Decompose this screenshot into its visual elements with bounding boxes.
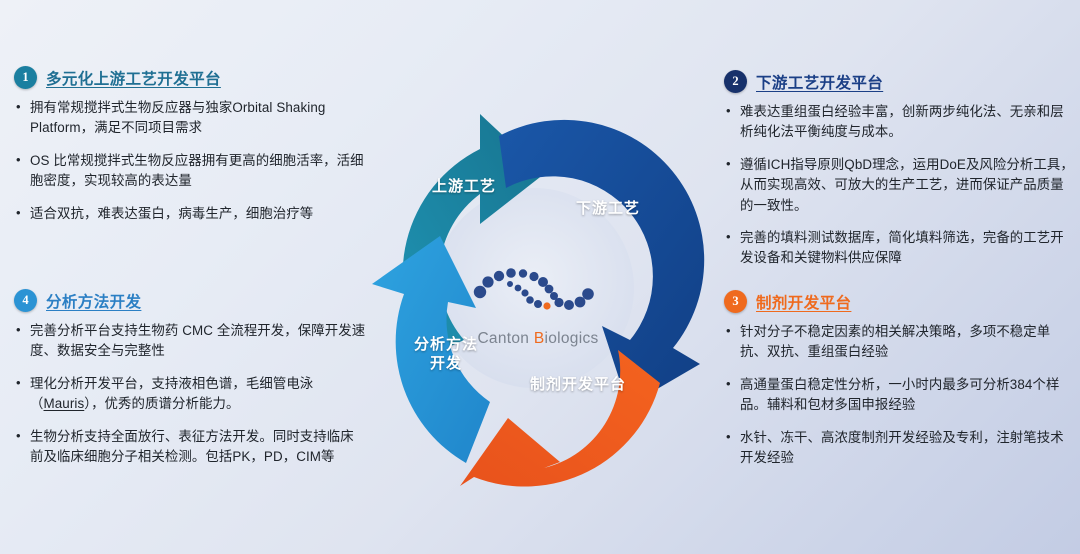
section-analytics-title: 分析方法开发 (46, 290, 141, 312)
list-item: 高通量蛋白稳定性分析，一小时内最多可分析384个样品。辅料和包材多国申报经验 (724, 375, 1076, 416)
list-item: 完善的填料测试数据库，简化填料筛选，完备的工艺开发设备和关键物料供应保障 (724, 228, 1076, 269)
badge-number-2: 2 (724, 70, 747, 93)
section-downstream: 2 下游工艺开发平台 难表达重组蛋白经验丰富，创新两步纯化法、无亲和层析纯化法平… (724, 70, 1076, 269)
cycle-diagram: 上游工艺 下游工艺 制剂开发平台 分析方法开发 (348, 88, 720, 488)
text-run: 生物分析支持全面放行、表征方法开发。同时支持临床前及临床细胞分子相关检测。包括P… (30, 429, 354, 464)
emphasis-text: Mauris (44, 396, 85, 411)
list-item: 水针、冻干、高浓度制剂开发经验及专利，注射笔技术开发经验 (724, 428, 1076, 469)
section-formulation-bullets: 针对分子不稳定因素的相关解决策略，多项不稳定单抗、双抗、重组蛋白经验 高通量蛋白… (724, 322, 1076, 468)
list-item: 难表达重组蛋白经验丰富，创新两步纯化法、无亲和层析纯化法平衡纯度与成本。 (724, 102, 1076, 143)
section-formulation: 3 制剂开发平台 针对分子不稳定因素的相关解决策略，多项不稳定单抗、双抗、重组蛋… (724, 290, 1076, 468)
list-item: 完善分析平台支持生物药 CMC 全流程开发，保障开发速度、数据安全与完整性 (14, 321, 366, 362)
section-formulation-heading: 3 制剂开发平台 (724, 290, 1076, 313)
badge-number-4: 4 (14, 289, 37, 312)
badge-number-1: 1 (14, 66, 37, 89)
section-analytics-bullets: 完善分析平台支持生物药 CMC 全流程开发，保障开发速度、数据安全与完整性理化分… (14, 321, 366, 467)
list-item: 适合双抗，难表达蛋白，病毒生产，细胞治疗等 (14, 204, 366, 224)
section-upstream-bullets: 拥有常规搅拌式生物反应器与独家Orbital Shaking Platform，… (14, 98, 366, 224)
slide-canvas: 1 多元化上游工艺开发平台 拥有常规搅拌式生物反应器与独家Orbital Sha… (0, 0, 1080, 554)
list-item: 遵循ICH指导原则QbD理念，运用DoE及风险分析工具，从而实现高效、可放大的生… (724, 155, 1076, 216)
badge-number-3: 3 (724, 290, 747, 313)
section-analytics-heading: 4 分析方法开发 (14, 289, 366, 312)
section-upstream-heading: 1 多元化上游工艺开发平台 (14, 66, 366, 89)
text-run: ），优秀的质谱分析能力。 (84, 396, 239, 411)
section-downstream-heading: 2 下游工艺开发平台 (724, 70, 1076, 93)
section-analytics: 4 分析方法开发 完善分析平台支持生物药 CMC 全流程开发，保障开发速度、数据… (14, 289, 366, 467)
list-item: 针对分子不稳定因素的相关解决策略，多项不稳定单抗、双抗、重组蛋白经验 (724, 322, 1076, 363)
list-item: 拥有常规搅拌式生物反应器与独家Orbital Shaking Platform，… (14, 98, 366, 139)
section-upstream-title: 多元化上游工艺开发平台 (46, 67, 221, 89)
section-formulation-title: 制剂开发平台 (756, 291, 851, 313)
section-downstream-bullets: 难表达重组蛋白经验丰富，创新两步纯化法、无亲和层析纯化法平衡纯度与成本。 遵循I… (724, 102, 1076, 269)
list-item: 生物分析支持全面放行、表征方法开发。同时支持临床前及临床细胞分子相关检测。包括P… (14, 427, 366, 468)
list-item: OS 比常规搅拌式生物反应器拥有更高的细胞活率，活细胞密度，实现较高的表达量 (14, 151, 366, 192)
section-upstream: 1 多元化上游工艺开发平台 拥有常规搅拌式生物反应器与独家Orbital Sha… (14, 66, 366, 224)
list-item: 理化分析开发平台，支持液相色谱，毛细管电泳（Mauris），优秀的质谱分析能力。 (14, 374, 366, 415)
text-run: 完善分析平台支持生物药 CMC 全流程开发，保障开发速度、数据安全与完整性 (30, 323, 365, 358)
section-downstream-title: 下游工艺开发平台 (756, 71, 883, 93)
